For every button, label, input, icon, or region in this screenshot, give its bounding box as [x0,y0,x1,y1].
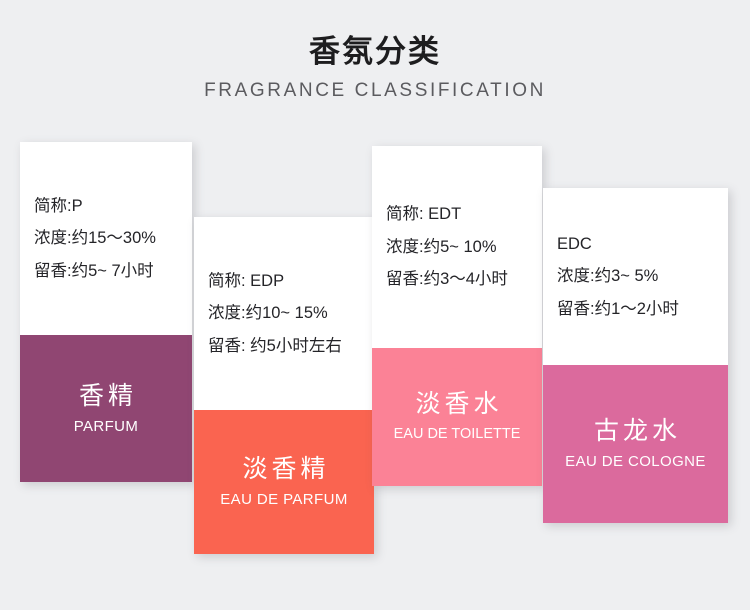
card-name-en: PARFUM [74,409,139,434]
lasting-line: 留香:约3～4小时 [386,263,528,296]
card-name-en: EAU DE COLOGNE [565,444,706,469]
fragrance-card-edp: 简称: EDP 浓度:约10~ 15% 留香: 约5小时左右 淡香精 EAU D… [194,217,374,554]
card-info-edp: 简称: EDP 浓度:约10~ 15% 留香: 约5小时左右 [194,217,374,410]
card-name-cn: 香精 [75,384,137,409]
card-info-edc: EDC 浓度:约3~ 5% 留香:约1～2小时 [543,188,728,365]
abbr-line: 简称: EDT [386,198,528,231]
lasting-line: 留香: 约5小时左右 [208,330,360,363]
card-band-edc: 古龙水 EAU DE COLOGNE [543,365,728,523]
concentration-line: 浓度:约10~ 15% [208,297,360,330]
card-name-cn: 古龙水 [590,419,681,444]
page-title-en: FRAGRANCE CLASSIFICATION [0,70,750,102]
abbr-line: EDC [557,228,714,261]
concentration-line: 浓度:约15～30% [34,222,178,255]
card-band-parfum: 香精 PARFUM [20,335,192,482]
infographic-page: 香氛分类 FRAGRANCE CLASSIFICATION 简称:P 浓度:约1… [0,0,750,610]
concentration-line: 浓度:约5~ 10% [386,231,528,264]
abbr-line: 简称:P [34,190,178,223]
fragrance-card-edt: 简称: EDT 浓度:约5~ 10% 留香:约3～4小时 淡香水 EAU DE … [372,146,542,486]
page-header: 香氛分类 FRAGRANCE CLASSIFICATION [0,0,750,102]
lasting-line: 留香:约5~ 7小时 [34,255,178,288]
card-name-en: EAU DE PARFUM [220,482,347,507]
card-info-edt: 简称: EDT 浓度:约5~ 10% 留香:约3～4小时 [372,146,542,348]
card-name-cn: 淡香精 [238,457,329,482]
fragrance-card-edc: EDC 浓度:约3~ 5% 留香:约1～2小时 古龙水 EAU DE COLOG… [543,188,728,523]
fragrance-card-parfum: 简称:P 浓度:约15～30% 留香:约5~ 7小时 香精 PARFUM [20,142,192,482]
concentration-line: 浓度:约3~ 5% [557,260,714,293]
page-title-cn: 香氛分类 [0,0,750,70]
card-band-edt: 淡香水 EAU DE TOILETTE [372,348,542,486]
card-name-en: EAU DE TOILETTE [394,417,521,442]
lasting-line: 留香:约1～2小时 [557,293,714,326]
card-info-parfum: 简称:P 浓度:约15～30% 留香:约5~ 7小时 [20,142,192,335]
card-band-edp: 淡香精 EAU DE PARFUM [194,410,374,554]
card-name-cn: 淡香水 [411,392,502,417]
abbr-line: 简称: EDP [208,265,360,298]
